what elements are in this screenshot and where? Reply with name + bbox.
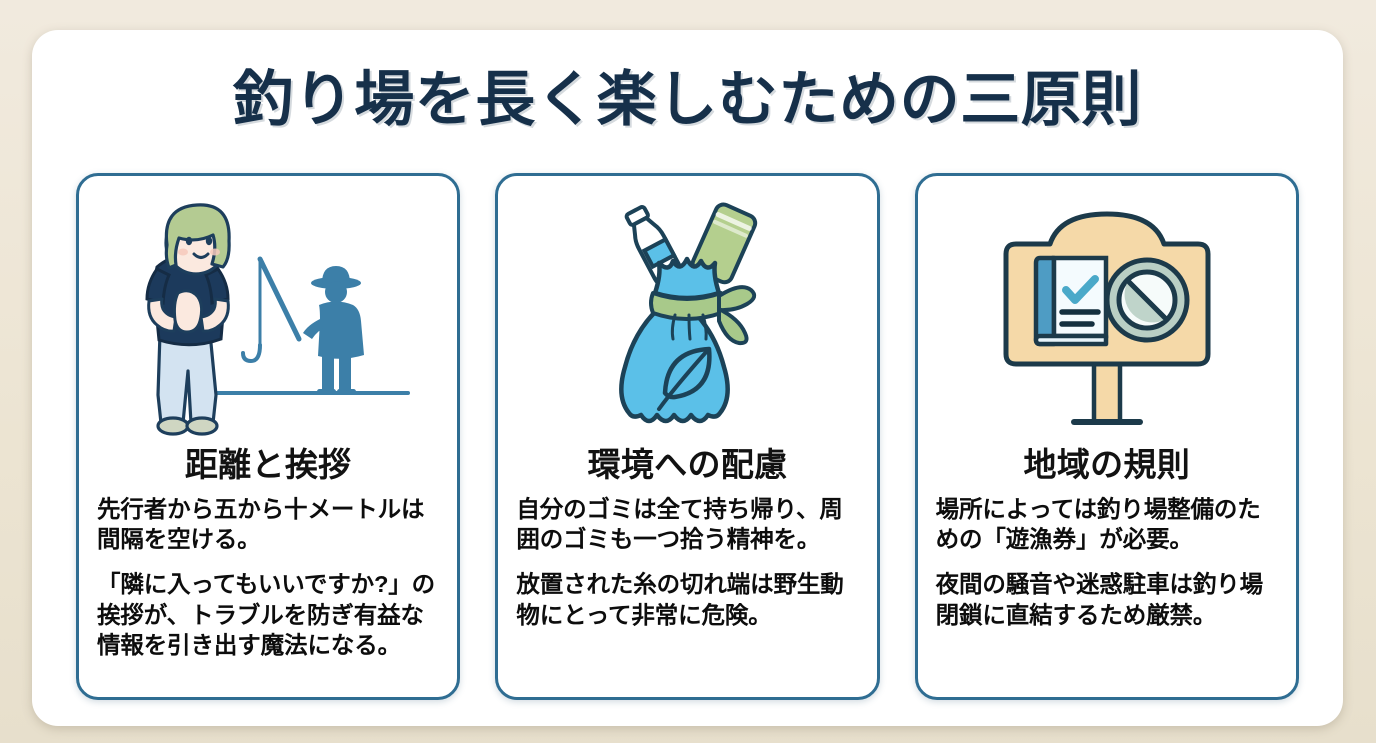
card-paragraph-1-1: 先行者から五から十メートルは間隔を空ける。 — [97, 494, 439, 555]
card-illustration-3 — [932, 192, 1282, 442]
principles-card-row: 距離と挨拶 先行者から五から十メートルは間隔を空ける。 「隣に入ってもいいですか… — [76, 173, 1299, 700]
trash-bag-with-leaf-icon — [577, 197, 797, 437]
rulebook-icon — [1036, 258, 1106, 344]
rules-signboard-icon — [982, 200, 1232, 435]
card-paragraph-3-1: 場所によっては釣り場整備のための「遊漁券」が必要。 — [936, 494, 1278, 555]
card-paragraph-1-2: 「隣に入ってもいいですか?」の挨拶が、トラブルを防ぎ有益な情報を引き出す魔法にな… — [97, 569, 439, 661]
card-heading-1: 距離と挨拶 — [185, 446, 352, 484]
card-heading-2: 環境への配慮 — [588, 446, 788, 484]
card-body-2: 自分のゴミは全て持ち帰り、周囲のゴミも一つ拾う精神を。 放置された糸の切れ端は野… — [512, 494, 862, 630]
card-paragraph-3-2: 夜間の騒音や迷惑駐車は釣り場閉鎖に直結するため厳禁。 — [936, 569, 1278, 630]
card-illustration-1 — [93, 192, 443, 442]
card-body-1: 先行者から五から十メートルは間隔を空ける。 「隣に入ってもいいですか?」の挨拶が… — [93, 494, 443, 661]
principle-card-environment[interactable]: 環境への配慮 自分のゴミは全て持ち帰り、周囲のゴミも一つ拾う精神を。 放置された… — [495, 173, 879, 700]
poster-canvas: 釣り場を長く楽しむための三原則 — [0, 0, 1376, 743]
page-title: 釣り場を長く楽しむための三原則 — [32, 30, 1343, 133]
card-paragraph-2-1: 自分のゴミは全て持ち帰り、周囲のゴミも一つ拾う精神を。 — [516, 494, 858, 555]
principle-card-distance-greeting[interactable]: 距離と挨拶 先行者から五から十メートルは間隔を空ける。 「隣に入ってもいいですか… — [76, 173, 460, 700]
card-illustration-2 — [512, 192, 862, 442]
content-panel: 釣り場を長く楽しむための三原則 — [32, 30, 1343, 726]
card-paragraph-2-2: 放置された糸の切れ端は野生動物にとって非常に危険。 — [516, 569, 858, 630]
bowing-woman-greeting-angler-icon — [123, 197, 413, 437]
card-body-3: 場所によっては釣り場整備のための「遊漁券」が必要。 夜間の騒音や迷惑駐車は釣り場… — [932, 494, 1282, 630]
prohibition-sign-icon — [1107, 260, 1187, 340]
principle-card-local-rules[interactable]: 地域の規則 場所によっては釣り場整備のための「遊漁券」が必要。 夜間の騒音や迷惑… — [915, 173, 1299, 700]
card-heading-3: 地域の規則 — [1023, 446, 1190, 484]
